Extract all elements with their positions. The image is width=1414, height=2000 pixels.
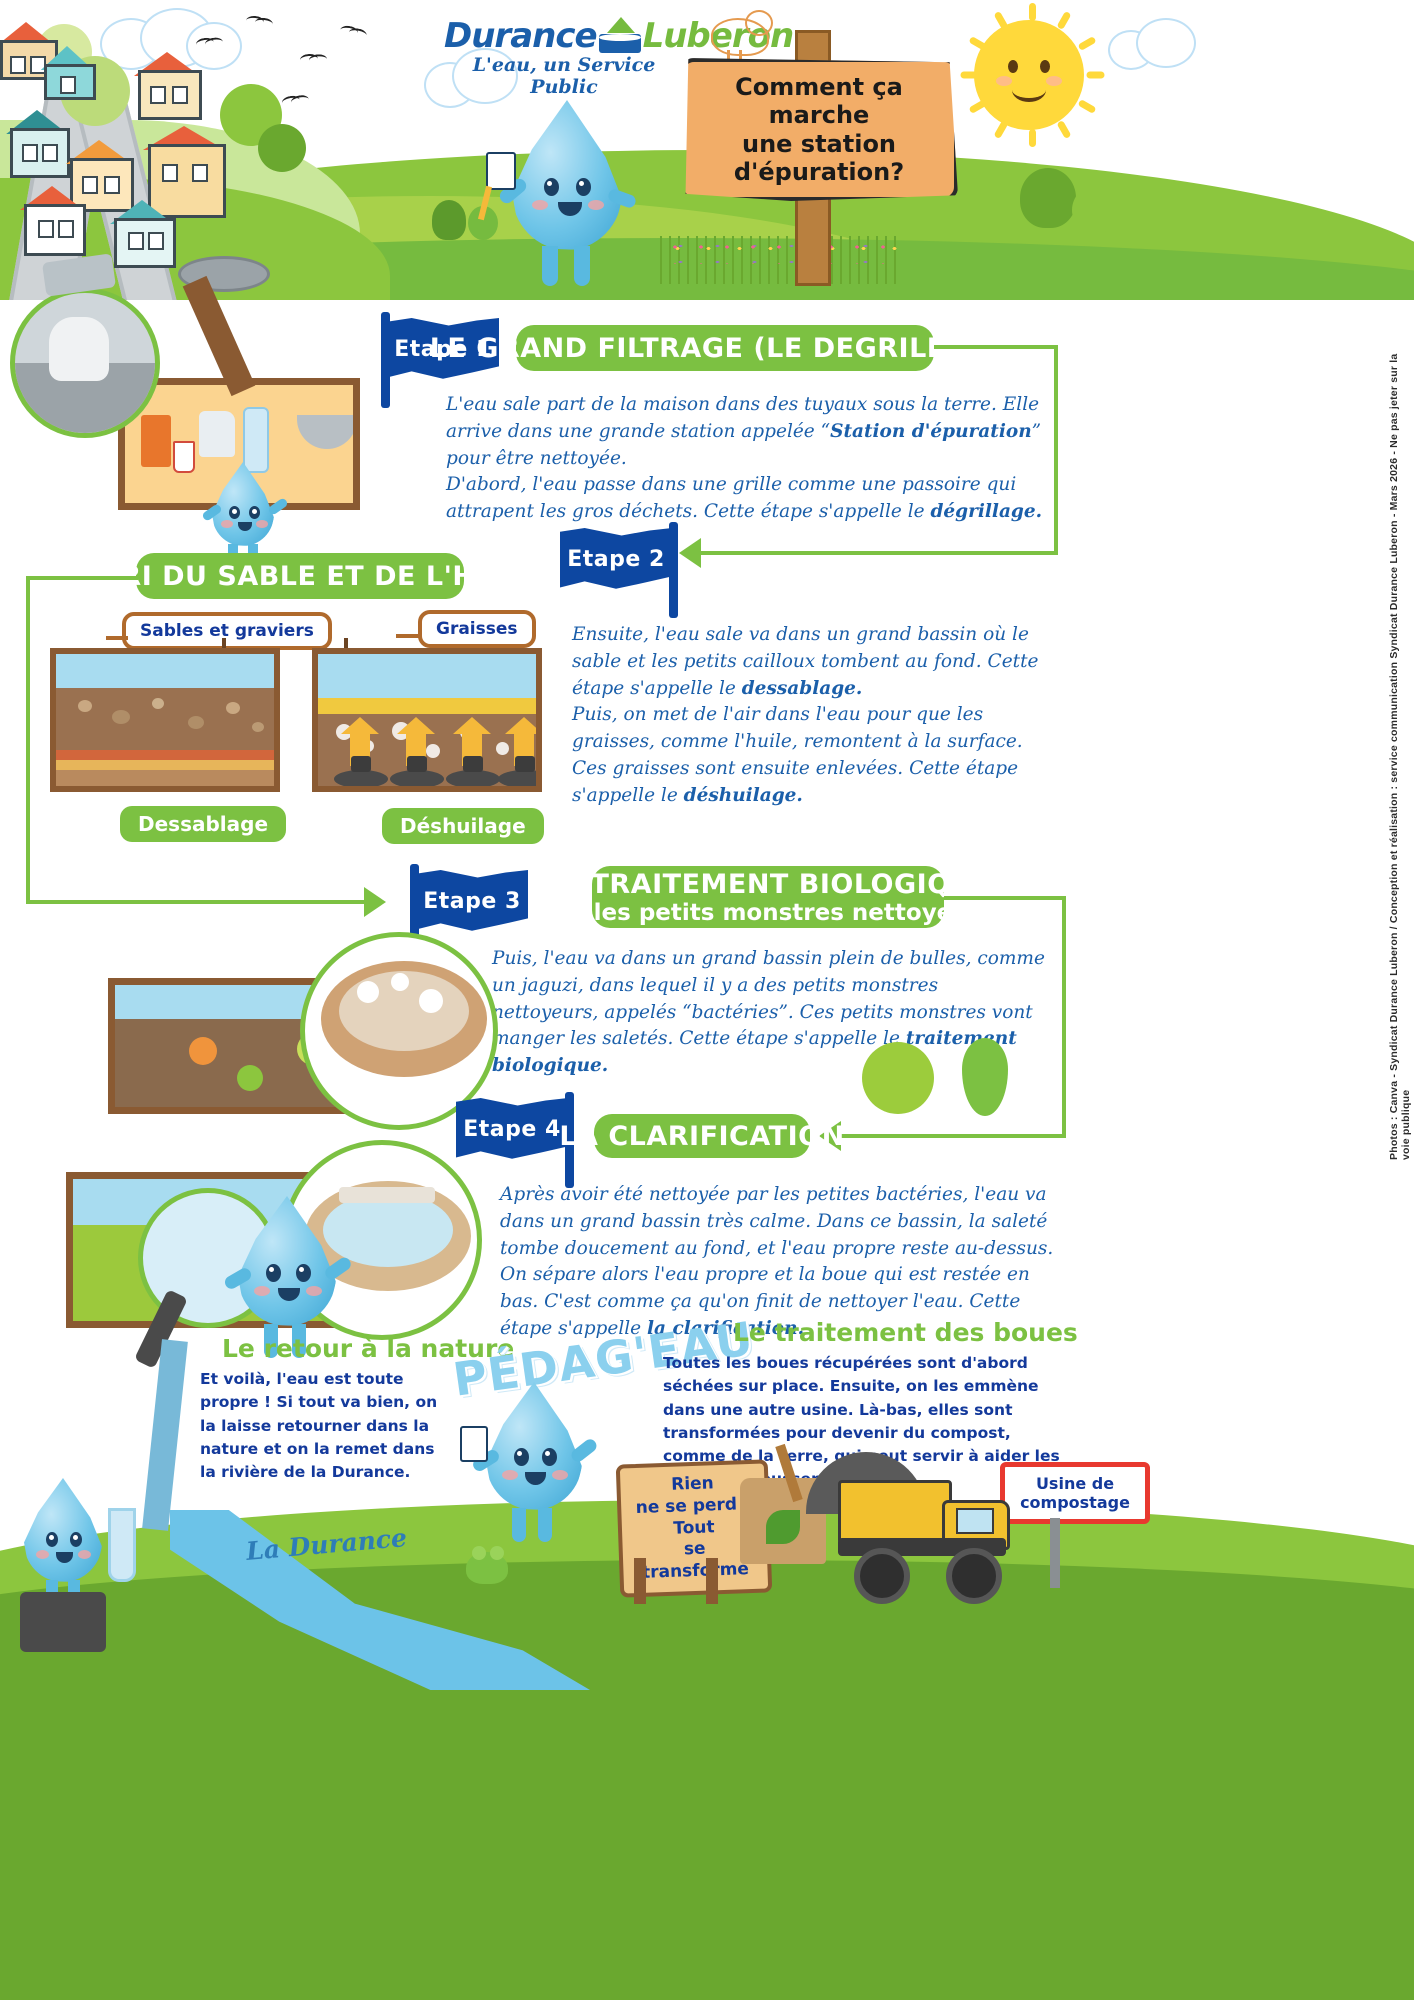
compost-line-2: compostage bbox=[1019, 1493, 1131, 1512]
sediment-dot bbox=[252, 722, 264, 732]
connector-2-left bbox=[26, 576, 138, 580]
sediment-dot bbox=[152, 698, 164, 709]
microbe-green-large bbox=[862, 1042, 934, 1114]
sediment-dot bbox=[226, 702, 240, 714]
callout-pointer-2 bbox=[396, 634, 420, 638]
brand-tagline: L'eau, un Service Public bbox=[444, 54, 684, 98]
cloud-7 bbox=[1136, 18, 1196, 68]
step-3-flag-label: Etape 3 bbox=[423, 889, 521, 914]
grid-screen-photo bbox=[10, 288, 160, 438]
tank-deshuilage bbox=[312, 648, 542, 792]
callout-pointer-1 bbox=[106, 636, 128, 640]
reuse-line-2: ne se perd ! bbox=[635, 1494, 752, 1520]
step-4-flag-label: Etape 4 bbox=[463, 1117, 561, 1142]
water-drop-mascot-main bbox=[512, 100, 622, 250]
village-illustration bbox=[0, 0, 330, 300]
sign-line-1: Comment ça marche bbox=[684, 73, 954, 130]
step-2-paragraph: Ensuite, l'eau sale va dans un grand bas… bbox=[572, 622, 1052, 810]
sediment-dot bbox=[112, 710, 130, 724]
reuse-sign-post-right bbox=[706, 1558, 718, 1604]
step-2-flag-label: Etape 2 bbox=[567, 547, 665, 572]
water-drop-mascot-scientist bbox=[24, 1478, 102, 1582]
connector-2-vertical bbox=[26, 576, 30, 904]
step-1-title: LE GRAND FILTRAGE (LE DEGRILLAGE) bbox=[430, 333, 1021, 364]
compost-plant-sign: Usine de compostage bbox=[1000, 1462, 1150, 1524]
cup-icon bbox=[173, 441, 195, 473]
tag-deshuilage: Déshuilage bbox=[382, 808, 544, 844]
tree-right-1 bbox=[1020, 168, 1076, 228]
sediment-dot bbox=[78, 700, 92, 712]
brand-logo: DuranceLuberon L'eau, un Service Public bbox=[444, 16, 684, 86]
sun-icon bbox=[974, 20, 1084, 130]
colander-icon bbox=[297, 415, 357, 449]
step-2-title-banner: LE TRI DU SABLE ET DE L'HUILE bbox=[136, 553, 464, 599]
connector-2-arrowhead bbox=[364, 887, 386, 917]
brand-name-part1: Durance bbox=[444, 16, 597, 56]
reuse-line-4: se transforme bbox=[636, 1537, 753, 1585]
air-diffuser bbox=[446, 770, 500, 788]
microbe-orange bbox=[189, 1037, 217, 1065]
connector-2-bottom bbox=[26, 900, 366, 904]
sign-line-2: une station bbox=[684, 130, 954, 158]
callout-sand-gravel: Sables et graviers bbox=[122, 612, 332, 650]
tree-right-2 bbox=[1072, 186, 1118, 234]
water-drop-mascot-step1 bbox=[212, 462, 274, 546]
footer-hill-dark bbox=[0, 1560, 1414, 2000]
air-diffuser bbox=[334, 770, 388, 788]
step-3-subtitle: par les petits monstres nettoyeurs bbox=[542, 900, 993, 926]
water-drop-mascot-pedageau bbox=[486, 1382, 582, 1510]
microscope-icon bbox=[20, 1592, 106, 1652]
house-8 bbox=[114, 200, 170, 262]
house-7 bbox=[24, 186, 80, 250]
water-drop-mascot-step4 bbox=[238, 1196, 336, 1326]
microbe-bacillus bbox=[962, 1038, 1008, 1116]
connector-1-bottom bbox=[700, 551, 1058, 555]
credits-text: Photos : Canva - Syndicat Durance Lubero… bbox=[1388, 330, 1410, 1160]
connector-1-right bbox=[1054, 345, 1058, 555]
air-bubble bbox=[496, 742, 509, 755]
tree-right-3 bbox=[432, 200, 466, 240]
step-4-flag: Etape 4 bbox=[456, 1092, 574, 1188]
connector-3-bottom bbox=[840, 1134, 1066, 1138]
sediment-dot bbox=[188, 716, 204, 729]
sludge-title: Le traitement des boues bbox=[733, 1318, 1078, 1347]
connector-1-arrowhead bbox=[679, 538, 701, 568]
house-2 bbox=[44, 46, 90, 94]
step-3-title: LE TRAITEMENT BIOLOGIQUE bbox=[544, 869, 992, 900]
dump-truck-icon bbox=[838, 1466, 1008, 1596]
nature-text: Et voilà, l'eau est toute propre ! Si to… bbox=[200, 1368, 446, 1484]
wave-icon bbox=[597, 23, 643, 53]
frog-eye-left bbox=[472, 1546, 486, 1560]
flower-dots bbox=[662, 238, 898, 264]
step-1-title-banner: LE GRAND FILTRAGE (LE DEGRILLAGE) bbox=[516, 325, 934, 371]
bird-icon bbox=[705, 8, 775, 60]
sprout-icon bbox=[766, 1510, 800, 1544]
frog-eye-right bbox=[490, 1546, 504, 1560]
step-4-title-banner: LA CLARIFICATION bbox=[594, 1114, 810, 1158]
compost-sign-post bbox=[1050, 1518, 1060, 1588]
notebook-icon bbox=[486, 152, 516, 190]
title-signboard: Comment ça marche une station d'épuratio… bbox=[680, 58, 958, 201]
step-4-title: LA CLARIFICATION bbox=[559, 1121, 844, 1152]
connector-1-top bbox=[934, 345, 1058, 349]
reuse-sign-post-left bbox=[634, 1558, 646, 1604]
test-tube-icon bbox=[108, 1508, 136, 1582]
air-diffuser bbox=[390, 770, 444, 788]
air-bubble bbox=[426, 744, 440, 758]
tank-dessablage bbox=[50, 648, 280, 792]
sign-line-3: d'épuration? bbox=[684, 158, 954, 186]
step-2-flag: Etape 2 bbox=[560, 522, 678, 618]
microbe-green-small bbox=[237, 1065, 263, 1091]
outflow-pipe bbox=[142, 1339, 188, 1531]
notebook-icon bbox=[460, 1426, 488, 1462]
compost-line-1: Usine de bbox=[1019, 1474, 1131, 1493]
connector-3-top bbox=[944, 896, 1066, 900]
connector-3-vertical bbox=[1062, 896, 1066, 1138]
house-3 bbox=[138, 52, 196, 114]
house-4 bbox=[10, 110, 64, 172]
step-3-title-banner: LE TRAITEMENT BIOLOGIQUE par les petits … bbox=[592, 866, 944, 928]
step-1-paragraph: L'eau sale part de la maison dans des tu… bbox=[446, 392, 1046, 526]
tree-4 bbox=[258, 124, 306, 172]
infographic-page: DuranceLuberon L'eau, un Service Public … bbox=[0, 0, 1414, 2000]
callout-grease: Graisses bbox=[418, 610, 536, 648]
plastic-bag-icon bbox=[199, 411, 235, 457]
tag-dessablage: Dessablage bbox=[120, 806, 286, 842]
